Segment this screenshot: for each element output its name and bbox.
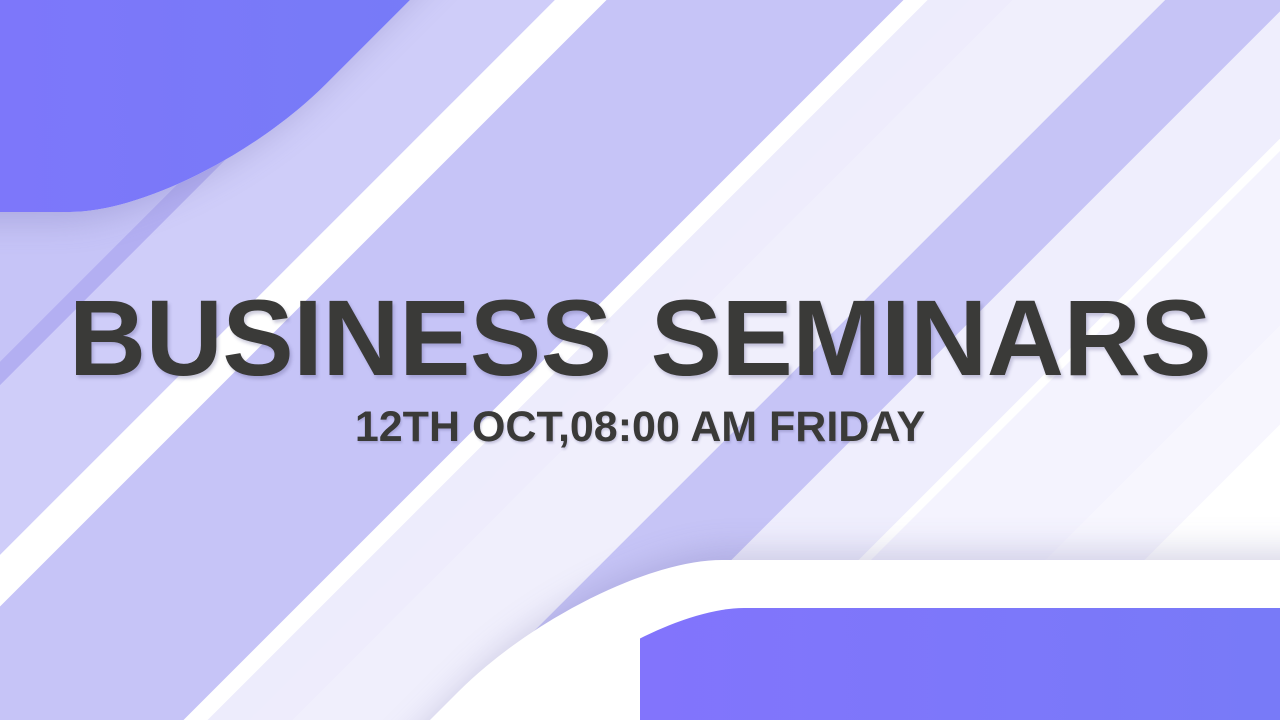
poster-text-block: BUSINESS SEMINARS 12TH OCT,08:00 AM FRID… bbox=[0, 284, 1280, 449]
bottom-right-shape-gradient bbox=[640, 608, 1280, 720]
event-datetime-subtitle: 12TH OCT,08:00 AM FRIDAY bbox=[0, 406, 1280, 449]
page-title: BUSINESS SEMINARS bbox=[6, 284, 1273, 392]
event-poster: BUSINESS SEMINARS 12TH OCT,08:00 AM FRID… bbox=[0, 0, 1280, 720]
